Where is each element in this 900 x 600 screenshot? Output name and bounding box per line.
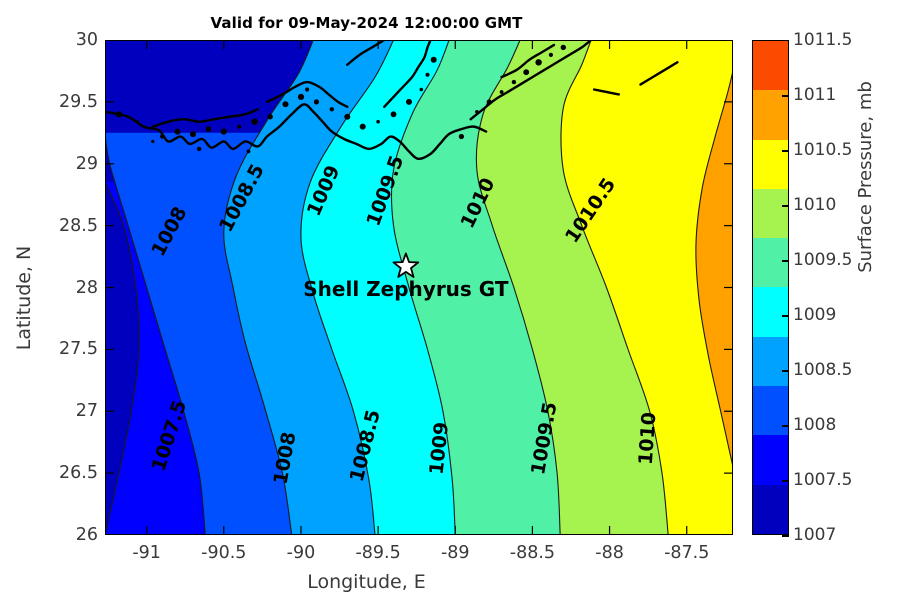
coastline-detail: [175, 129, 181, 135]
y-tick-label: 27: [76, 401, 98, 421]
colorbar-segment: [753, 287, 788, 336]
coastline-detail: [420, 88, 424, 92]
coastline-detail: [431, 57, 437, 63]
coastline-detail: [523, 69, 529, 75]
x-axis-label: Longitude, E: [0, 571, 733, 593]
colorbar-tick-label: 1010: [793, 195, 836, 215]
colorbar-segment: [753, 386, 788, 435]
x-axis-ticks: -91-90.5-90-89.5-89-88.5-88-87.5: [0, 543, 900, 569]
y-tick-label: 28.5: [59, 216, 98, 236]
coastline-detail: [549, 53, 553, 57]
colorbar-tick-mark: [782, 205, 789, 207]
contour-plot-area: 10081008.510091009.510101010.51007.51008…: [105, 40, 733, 535]
coastline-detail: [206, 126, 212, 132]
colorbar-tick-label: 1009: [793, 305, 836, 325]
coastline-detail: [237, 125, 241, 129]
x-tick-label: -90: [287, 543, 316, 563]
colorbar-tick-mark: [782, 315, 789, 317]
y-tick-label: 28: [76, 278, 98, 298]
x-tick-label: -87.5: [664, 543, 709, 563]
colorbar-tick-label: 1011.5: [793, 30, 852, 50]
coastline-detail: [475, 110, 479, 114]
coastline-detail: [500, 90, 504, 94]
x-tick-label: -88: [595, 543, 624, 563]
chart-title: Valid for 09-May-2024 12:00:00 GMT: [0, 14, 733, 32]
y-tick-label: 27.5: [59, 339, 98, 359]
y-tick-label: 26.5: [59, 463, 98, 483]
y-tick-label: 29: [76, 154, 98, 174]
colorbar-tick-label: 1008: [793, 415, 836, 435]
x-tick-label: -89.5: [355, 543, 400, 563]
colorbar-tick-mark: [782, 260, 789, 262]
y-tick-label: 29.5: [59, 92, 98, 112]
x-tick-label: -88.5: [510, 543, 555, 563]
coastline-detail: [330, 107, 334, 111]
colorbar-tick-mark: [782, 480, 789, 482]
coastline-detail: [305, 87, 309, 91]
colorbar-segment: [753, 485, 788, 534]
coastline-detail: [136, 120, 139, 123]
coastline-detail: [535, 59, 541, 65]
colorbar-tick-mark: [782, 425, 789, 427]
colorbar-tick-mark: [782, 150, 789, 152]
colorbar-segment: [753, 337, 788, 386]
coastline-detail: [252, 119, 258, 125]
colorbar-tick-label: 1008.5: [793, 360, 852, 380]
y-tick-label: 30: [76, 30, 98, 50]
contour-label: 1010: [635, 411, 661, 465]
colorbar-tick-label: 1011: [793, 85, 836, 105]
colorbar-segment: [753, 238, 788, 287]
coastline-detail: [512, 80, 516, 84]
y-axis-label: Latitude, N: [13, 178, 35, 418]
coastline-detail: [160, 134, 164, 138]
colorbar-tick-label: 1007: [793, 525, 836, 545]
colorbar-tick-label: 1010.5: [793, 140, 852, 160]
colorbar-tick-label: 1009.5: [793, 250, 852, 270]
coastline-detail: [190, 131, 196, 137]
x-tick-label: -91: [132, 543, 161, 563]
colorbar-tick-label: 1007.5: [793, 470, 852, 490]
coastline-detail: [298, 94, 304, 100]
colorbar-tick-mark: [782, 95, 789, 97]
coastline-detail: [344, 114, 350, 120]
colorbar: [752, 40, 789, 535]
coastline-detail: [247, 150, 251, 154]
colorbar-label-wrap: Surface Pressure, mb: [747, 165, 900, 189]
contour-svg: 10081008.510091009.510101010.51007.51008…: [105, 40, 733, 535]
colorbar-tick-mark: [782, 535, 789, 537]
coastline-detail: [283, 101, 289, 107]
colorbar-segment: [753, 435, 788, 484]
y-tick-label: 26: [76, 525, 98, 545]
coastline-detail: [221, 129, 227, 135]
colorbar-segment: [753, 90, 788, 139]
coastline-detail: [116, 111, 122, 117]
coastline-detail: [459, 134, 464, 139]
coastline-detail: [406, 99, 412, 105]
coastline-detail: [391, 111, 397, 117]
coastline-detail: [151, 140, 154, 143]
station-label: Shell Zephyrus GT: [303, 277, 509, 301]
coastline-detail: [267, 114, 273, 120]
x-tick-label: -90.5: [201, 543, 246, 563]
coastline-detail: [314, 99, 319, 104]
coastline-detail: [376, 120, 380, 124]
figure-root: Valid for 09-May-2024 12:00:00 GMT 10081…: [0, 0, 900, 600]
colorbar-label: Surface Pressure, mb: [855, 57, 876, 297]
colorbar-segment: [753, 41, 788, 90]
coastline-detail: [561, 45, 566, 50]
colorbar-tick-mark: [782, 370, 789, 372]
colorbar-segment: [753, 189, 788, 238]
coastline-detail: [487, 99, 492, 104]
x-tick-label: -89: [441, 543, 470, 563]
coastline-detail: [360, 124, 366, 130]
coastline-detail: [426, 73, 430, 77]
coastline-detail: [197, 147, 201, 151]
